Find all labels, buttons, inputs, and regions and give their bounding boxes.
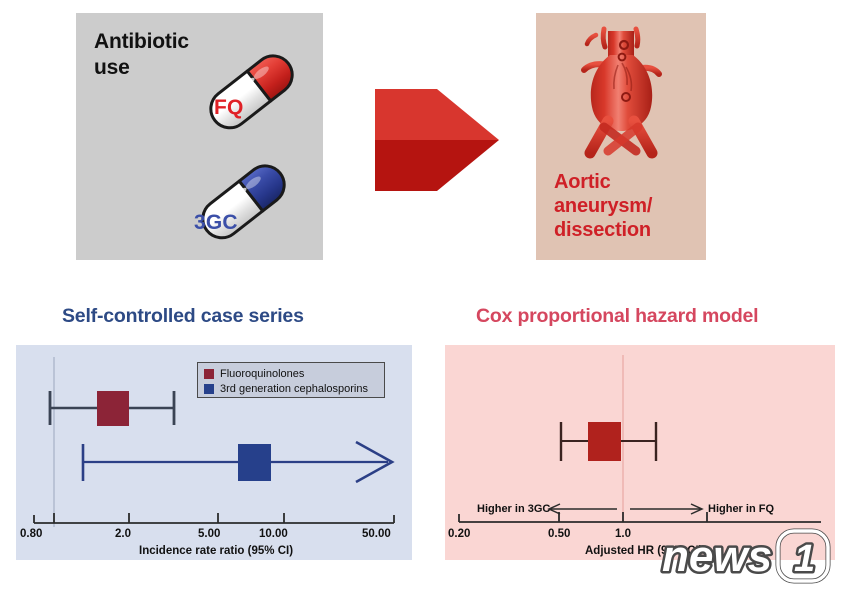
x-tick-label: 0.20 bbox=[448, 528, 470, 540]
aortic-outcome-label: Aorticaneurysm/dissection bbox=[554, 170, 704, 242]
news1-watermark: news news 1 1 bbox=[660, 527, 836, 585]
legend-swatch-icon bbox=[204, 384, 214, 394]
legend-label: 3rd generation cephalosporins bbox=[220, 383, 368, 395]
antibiotic-use-panel: Antibioticuse bbox=[76, 13, 323, 260]
x-tick-label: 10.00 bbox=[259, 528, 288, 540]
legend-label: Fluoroquinolones bbox=[220, 368, 304, 380]
x-tick-label: 0.50 bbox=[548, 528, 570, 540]
higher-in-fq-label: Higher in FQ bbox=[708, 503, 774, 515]
legend-item-fluoroquinolones: Fluoroquinolones bbox=[204, 366, 379, 381]
chevron-right-icon bbox=[375, 85, 500, 195]
fq-capsule-icon bbox=[204, 31, 314, 141]
x-tick-label: 50.00 bbox=[362, 528, 391, 540]
left-chart-axis-caption: Incidence rate ratio (95% CI) bbox=[139, 545, 293, 557]
left-chart-legend: Fluoroquinolones 3rd generation cephalos… bbox=[197, 362, 385, 398]
direction-arrow-right bbox=[630, 504, 702, 514]
left-chart-title: Self-controlled case series bbox=[62, 305, 304, 328]
x-tick-label: 0.80 bbox=[20, 528, 42, 540]
right-chart-title: Cox proportional hazard model bbox=[476, 305, 758, 328]
x-axis bbox=[34, 513, 394, 523]
legend-item-3rd-generation-cephalosporins: 3rd generation cephalosporins bbox=[204, 381, 379, 396]
series-marker-3rd-generation-cephalosporins bbox=[83, 442, 392, 482]
x-tick-label: 1.0 bbox=[615, 528, 631, 540]
watermark-badge: 1 bbox=[794, 538, 815, 580]
series-marker-adjusted-hr bbox=[561, 422, 656, 461]
series-marker-fluoroquinolones bbox=[50, 391, 174, 426]
aortic-outcome-panel: Aorticaneurysm/dissection bbox=[536, 13, 706, 260]
infographic-top-row: Antibioticuse bbox=[0, 0, 845, 280]
3gc-capsule-icon bbox=[196, 141, 306, 253]
x-tick-label: 2.0 bbox=[115, 528, 131, 540]
higher-in-3gc-label: Higher in 3GC bbox=[477, 503, 550, 515]
3gc-capsule-label: 3GC bbox=[194, 211, 238, 235]
aorta-aneurysm-icon bbox=[564, 23, 680, 163]
watermark-text: news bbox=[662, 532, 772, 581]
x-tick-label: 5.00 bbox=[198, 528, 220, 540]
fq-capsule-label: FQ bbox=[214, 96, 244, 120]
legend-swatch-icon bbox=[204, 369, 214, 379]
